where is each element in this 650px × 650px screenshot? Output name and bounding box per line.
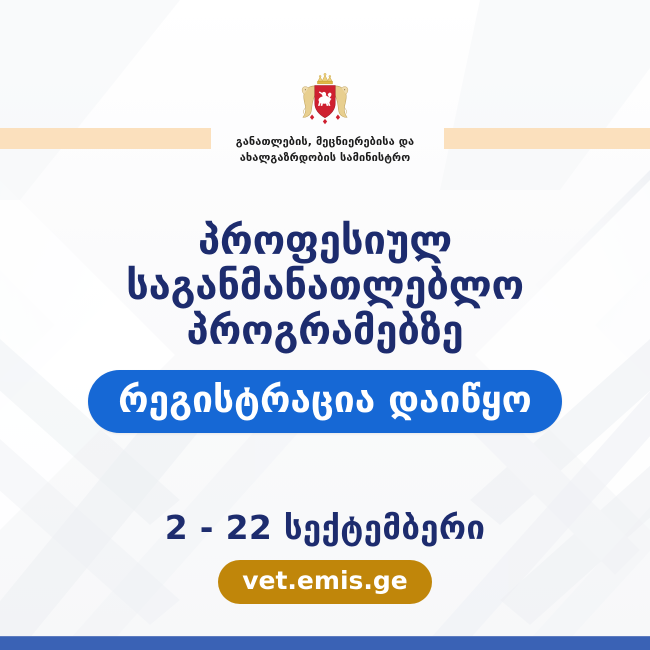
headline-line-3: პროგრამებზე [126,309,524,354]
headline-line-2: საგანმანათლებლო [126,264,524,309]
bottom-accent-bar [0,636,650,650]
coat-of-arms-svg [297,72,353,128]
crown-shape [317,73,332,84]
registration-open-badge[interactable]: რეგისტრაცია დაიწყო [88,370,562,433]
ministry-name-label: განათლების, მეცნიერებისა და ახალგაზრდობი… [236,134,414,166]
georgia-coat-of-arms-icon [297,72,353,128]
red-shield [315,85,335,117]
date-range-label: 2 - 22 სექტემბერი [165,511,486,544]
poster-header: განათლების, მეცნიერებისა და ახალგაზრდობი… [0,0,650,185]
headline-title: პროფესიულ საგანმანათლებლო პროგრამებზე [126,219,524,355]
website-url-badge[interactable]: vet.emis.ge [218,560,432,604]
poster-canvas: განათლების, მეცნიერებისა და ახალგაზრდობი… [0,0,650,650]
headline-line-1: პროფესიულ [126,219,524,264]
poster-body: პროფესიულ საგანმანათლებლო პროგრამებზე რე… [0,185,650,614]
